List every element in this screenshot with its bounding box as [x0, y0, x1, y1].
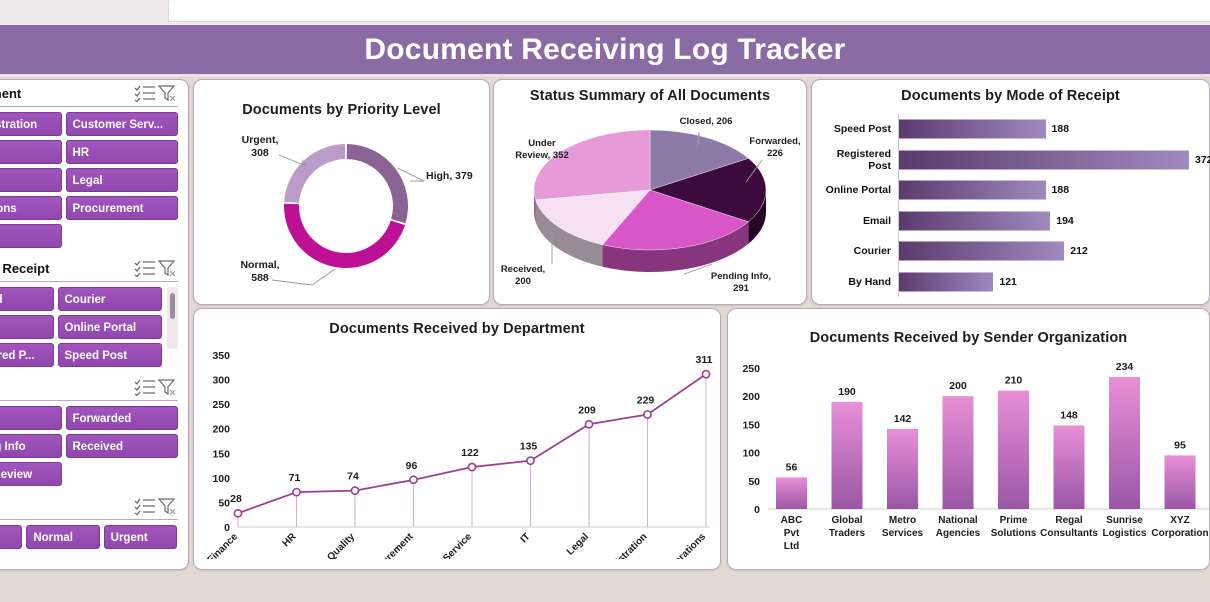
svg-text:Received,200: Received,200 — [501, 264, 545, 287]
bar-track: 212 — [898, 236, 1209, 267]
bar-value-label: 212 — [1064, 245, 1088, 257]
bar-row[interactable]: By Hand121 — [812, 267, 1209, 298]
slicer-item[interactable]: Courier — [58, 287, 163, 311]
slicer-item[interactable]: IT — [0, 168, 62, 192]
bar-track: 121 — [898, 267, 1209, 298]
bar-row[interactable]: Registered Post372 — [812, 145, 1209, 176]
svg-text:229: 229 — [637, 394, 655, 406]
slicer-items-department: Administration Customer Serv... Finance … — [0, 107, 178, 255]
svg-text:Operations: Operations — [663, 531, 708, 559]
bar-category-label: Email — [812, 215, 898, 227]
chart-card-department-line: Documents Received by Department 0501001… — [193, 308, 721, 570]
slicer-item[interactable]: Normal — [26, 525, 99, 549]
svg-text:50: 50 — [218, 497, 230, 509]
bar-category-label: Online Portal — [812, 184, 898, 196]
svg-text:142: 142 — [894, 413, 912, 425]
chart-title-department: Documents Received by Department — [194, 321, 720, 337]
slicer-item[interactable]: HR — [66, 140, 179, 164]
svg-text:Administration: Administration — [592, 531, 650, 559]
column-chart-sender[interactable]: 050100150200250 5619014220021014823495 A… — [728, 346, 1209, 561]
slicer-title-department: Department — [0, 86, 134, 101]
svg-text:250: 250 — [742, 363, 760, 375]
bar-value-label: 188 — [1046, 123, 1070, 135]
bar-value-label: 194 — [1050, 215, 1074, 227]
slicer-item[interactable]: Received — [66, 434, 179, 458]
slicer-item[interactable]: By Hand — [0, 287, 54, 311]
multi-select-icon[interactable] — [134, 259, 156, 277]
svg-text:71: 71 — [289, 472, 301, 484]
slicer-item[interactable]: Closed — [0, 406, 62, 430]
slicer-panel: Department Administration Customer Serv.… — [0, 79, 189, 570]
svg-text:350: 350 — [212, 350, 230, 362]
slicer-title-status: Status — [0, 380, 134, 395]
svg-text:100: 100 — [742, 448, 760, 460]
bar-track: 194 — [898, 206, 1209, 237]
svg-text:High, 379: High, 379 — [426, 170, 473, 182]
svg-text:122: 122 — [461, 447, 479, 459]
svg-text:96: 96 — [406, 460, 418, 472]
slicer-item[interactable]: Quality — [0, 224, 62, 248]
svg-text:NationalAgencies: NationalAgencies — [936, 515, 981, 539]
donut-chart-priority[interactable]: High, 379Normal,588Urgent,308 — [194, 118, 489, 298]
svg-text:Finance: Finance — [206, 531, 241, 559]
svg-text:200: 200 — [212, 424, 230, 436]
slicer-header: Department — [0, 80, 178, 107]
pie-chart-status[interactable]: Closed, 206Forwarded,226Pending Info,291… — [494, 104, 806, 302]
slicer-mode-of-receipt: Mode of Receipt By Hand Courier Email On… — [0, 255, 188, 374]
clear-filter-icon[interactable] — [156, 497, 178, 515]
svg-text:Quality: Quality — [325, 531, 357, 559]
svg-text:150: 150 — [212, 448, 230, 460]
chart-card-status-pie: Status Summary of All Documents Closed, … — [493, 79, 807, 305]
slicer-items-mode-of-receipt: By Hand Courier Email Online Portal Regi… — [0, 282, 178, 374]
slicer-item[interactable]: Online Portal — [58, 315, 163, 339]
bar-value-label: 372 — [1189, 154, 1210, 166]
bar-value-label: 188 — [1046, 184, 1070, 196]
svg-text:HR: HR — [281, 531, 300, 550]
clear-filter-icon[interactable] — [156, 259, 178, 277]
bar-track: 188 — [898, 175, 1209, 206]
slicer-department: Department Administration Customer Serv.… — [0, 80, 188, 255]
svg-text:200: 200 — [742, 391, 760, 403]
svg-text:Legal: Legal — [565, 531, 591, 557]
slicer-header: Status — [0, 374, 178, 401]
slicer-title-priority: Priority — [0, 499, 134, 514]
svg-text:SunriseLogistics: SunriseLogistics — [1103, 515, 1147, 539]
slicer-item[interactable]: Under Review — [0, 462, 62, 486]
bar-row[interactable]: Online Portal188 — [812, 175, 1209, 206]
bar-category-label: By Hand — [812, 276, 898, 288]
slicer-item[interactable]: Speed Post — [58, 343, 163, 367]
bar-category-label: Speed Post — [812, 123, 898, 135]
svg-text:150: 150 — [742, 419, 760, 431]
slicer-item[interactable]: Customer Serv... — [66, 112, 179, 136]
clear-filter-icon[interactable] — [156, 378, 178, 396]
svg-text:234: 234 — [1116, 361, 1134, 373]
slicer-item[interactable]: Legal — [66, 168, 179, 192]
slicer-item[interactable]: Administration — [0, 112, 62, 136]
svg-text:Urgent,308: Urgent,308 — [242, 134, 279, 159]
slicer-title-mode-of-receipt: Mode of Receipt — [0, 261, 134, 276]
bar-value-label: 121 — [993, 276, 1017, 288]
svg-text:100: 100 — [212, 473, 230, 485]
svg-text:95: 95 — [1174, 439, 1186, 451]
svg-text:IT: IT — [519, 531, 533, 545]
multi-select-icon[interactable] — [134, 378, 156, 396]
bar-fill — [899, 120, 1046, 139]
slicer-item[interactable]: Operations — [0, 196, 62, 220]
svg-text:0: 0 — [224, 522, 230, 534]
svg-text:Pending Info,291: Pending Info,291 — [711, 271, 771, 294]
bar-track: 372 — [898, 145, 1209, 176]
slicer-item[interactable]: High — [0, 525, 22, 549]
svg-text:311: 311 — [696, 354, 713, 366]
dashboard-title-banner: Document Receiving Log Tracker — [0, 25, 1210, 77]
bar-fill — [899, 242, 1064, 261]
bar-chart-mode-of-receipt[interactable]: Speed Post188Registered Post372Online Po… — [812, 114, 1209, 297]
svg-text:Forwarded,226: Forwarded,226 — [749, 136, 800, 159]
chart-title-status: Status Summary of All Documents — [494, 88, 806, 104]
svg-text:ABCPvtLtd: ABCPvtLtd — [781, 515, 803, 552]
svg-text:Customer Service: Customer Service — [406, 531, 474, 559]
chart-title-mode: Documents by Mode of Receipt — [812, 88, 1209, 104]
bar-fill — [899, 181, 1046, 200]
svg-text:Closed, 206: Closed, 206 — [680, 116, 733, 127]
svg-text:209: 209 — [578, 404, 596, 416]
multi-select-icon[interactable] — [134, 497, 156, 515]
slicer-item[interactable]: Forwarded — [66, 406, 179, 430]
slicer-item[interactable]: Registered P... — [0, 343, 54, 367]
svg-text:UnderReview, 352: UnderReview, 352 — [515, 138, 569, 161]
svg-text:XYZCorporation: XYZCorporation — [1151, 515, 1208, 539]
slicer-header: Priority — [0, 493, 178, 520]
chart-card-mode-bar: Documents by Mode of Receipt Speed Post1… — [811, 79, 1210, 305]
svg-text:200: 200 — [949, 380, 967, 392]
clear-filter-icon[interactable] — [156, 84, 178, 102]
svg-text:148: 148 — [1060, 410, 1078, 422]
page-title: Document Receiving Log Tracker — [364, 33, 845, 67]
bar-fill — [899, 150, 1189, 169]
bar-row[interactable]: Courier212 — [812, 236, 1209, 267]
workbook-sheet-area — [168, 0, 1210, 22]
svg-text:250: 250 — [212, 399, 230, 411]
svg-text:0: 0 — [754, 504, 760, 516]
svg-text:28: 28 — [230, 493, 242, 505]
slicer-scrollbar[interactable] — [167, 287, 178, 349]
slicer-header: Mode of Receipt — [0, 255, 178, 282]
svg-text:300: 300 — [212, 375, 230, 387]
bar-category-label: Registered Post — [812, 148, 898, 172]
slicer-item[interactable]: Procurement — [66, 196, 179, 220]
slicer-item[interactable]: Urgent — [104, 525, 177, 549]
bar-row[interactable]: Speed Post188 — [812, 114, 1209, 145]
svg-text:210: 210 — [1005, 375, 1023, 387]
multi-select-icon[interactable] — [134, 84, 156, 102]
svg-text:GlobalTraders: GlobalTraders — [829, 515, 866, 539]
chart-title-priority: Documents by Priority Level — [194, 102, 489, 118]
bar-category-label: Courier — [812, 245, 898, 257]
svg-text:74: 74 — [347, 471, 359, 483]
chart-card-priority-donut: Documents by Priority Level High, 379Nor… — [193, 79, 490, 305]
svg-text:RegalConsultants: RegalConsultants — [1040, 515, 1098, 539]
slicer-priority: Priority High Normal Urgent — [0, 493, 188, 556]
chart-card-sender-column: Documents Received by Sender Organizatio… — [727, 308, 1210, 570]
svg-text:50: 50 — [748, 476, 760, 488]
slicer-items-priority: High Normal Urgent — [0, 520, 178, 556]
bar-track: 188 — [898, 114, 1209, 145]
slicer-items-status: Closed Forwarded Pending Info Received U… — [0, 401, 178, 493]
slicer-item[interactable]: Finance — [0, 140, 62, 164]
svg-text:MetroServices: MetroServices — [882, 515, 924, 539]
svg-text:PrimeSolutions: PrimeSolutions — [991, 515, 1037, 539]
slicer-item[interactable]: Email — [0, 315, 54, 339]
line-chart-department[interactable]: 050100150200250300350 287174961221352092… — [194, 337, 720, 559]
svg-text:56: 56 — [786, 461, 798, 473]
workbook-chrome-strip — [0, 0, 1210, 25]
bar-fill — [899, 272, 993, 291]
bar-row[interactable]: Email194 — [812, 206, 1209, 237]
slicer-status: Status Closed Forwarded Pending Info Rec… — [0, 374, 188, 493]
svg-text:Procurement: Procurement — [364, 531, 416, 559]
svg-text:190: 190 — [838, 386, 856, 398]
chart-title-sender: Documents Received by Sender Organizatio… — [728, 330, 1209, 346]
svg-text:135: 135 — [520, 441, 538, 453]
bar-fill — [899, 211, 1050, 230]
slicer-item[interactable]: Pending Info — [0, 434, 62, 458]
